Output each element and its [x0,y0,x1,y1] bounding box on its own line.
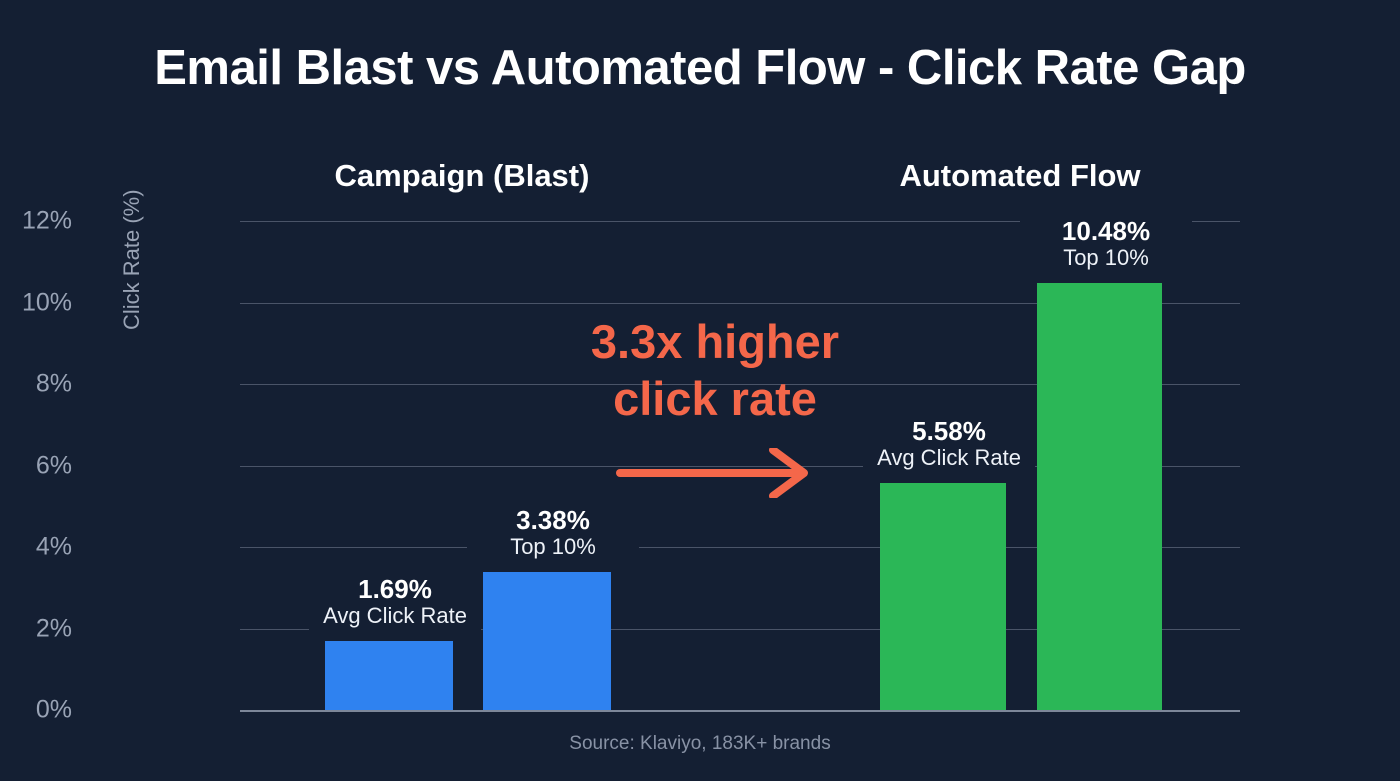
bar-label-campaign-top: 3.38% Top 10% [467,504,639,564]
group-header-campaign: Campaign (Blast) [312,158,612,194]
bar-value: 10.48% [1026,217,1186,245]
bar-label-campaign-avg: 1.69% Avg Click Rate [309,573,481,633]
bar-campaign-top[interactable] [483,572,611,710]
arrow-right-icon [615,448,815,503]
bar-sublabel: Top 10% [473,534,633,560]
bar-sublabel: Avg Click Rate [869,445,1029,471]
chart-slide: Email Blast vs Automated Flow - Click Ra… [0,0,1400,781]
y-tick-4: 4% [0,533,72,562]
page-title: Email Blast vs Automated Flow - Click Ra… [0,40,1400,96]
x-axis-line [240,710,1240,712]
y-tick-8: 8% [0,370,72,399]
annotation-line-1: 3.3x higher [515,313,915,370]
bar-flow-top[interactable] [1037,283,1162,710]
y-tick-12: 12% [0,207,72,236]
y-tick-10: 10% [0,288,72,317]
y-tick-6: 6% [0,451,72,480]
bar-value: 1.69% [315,575,475,603]
y-tick-0: 0% [0,696,72,725]
group-header-flow: Automated Flow [870,158,1170,194]
bar-sublabel: Avg Click Rate [315,603,475,629]
annotation-line-2: click rate [515,370,915,427]
bar-flow-avg[interactable] [880,483,1006,710]
y-axis-title: Click Rate (%) [119,189,145,330]
bar-sublabel: Top 10% [1026,245,1186,271]
bar-label-flow-top: 10.48% Top 10% [1020,215,1192,275]
bar-value: 3.38% [473,506,633,534]
y-tick-2: 2% [0,614,72,643]
source-note: Source: Klaviyo, 183K+ brands [0,733,1400,755]
annotation-callout: 3.3x higher click rate [515,313,915,428]
bar-campaign-avg[interactable] [325,641,453,710]
